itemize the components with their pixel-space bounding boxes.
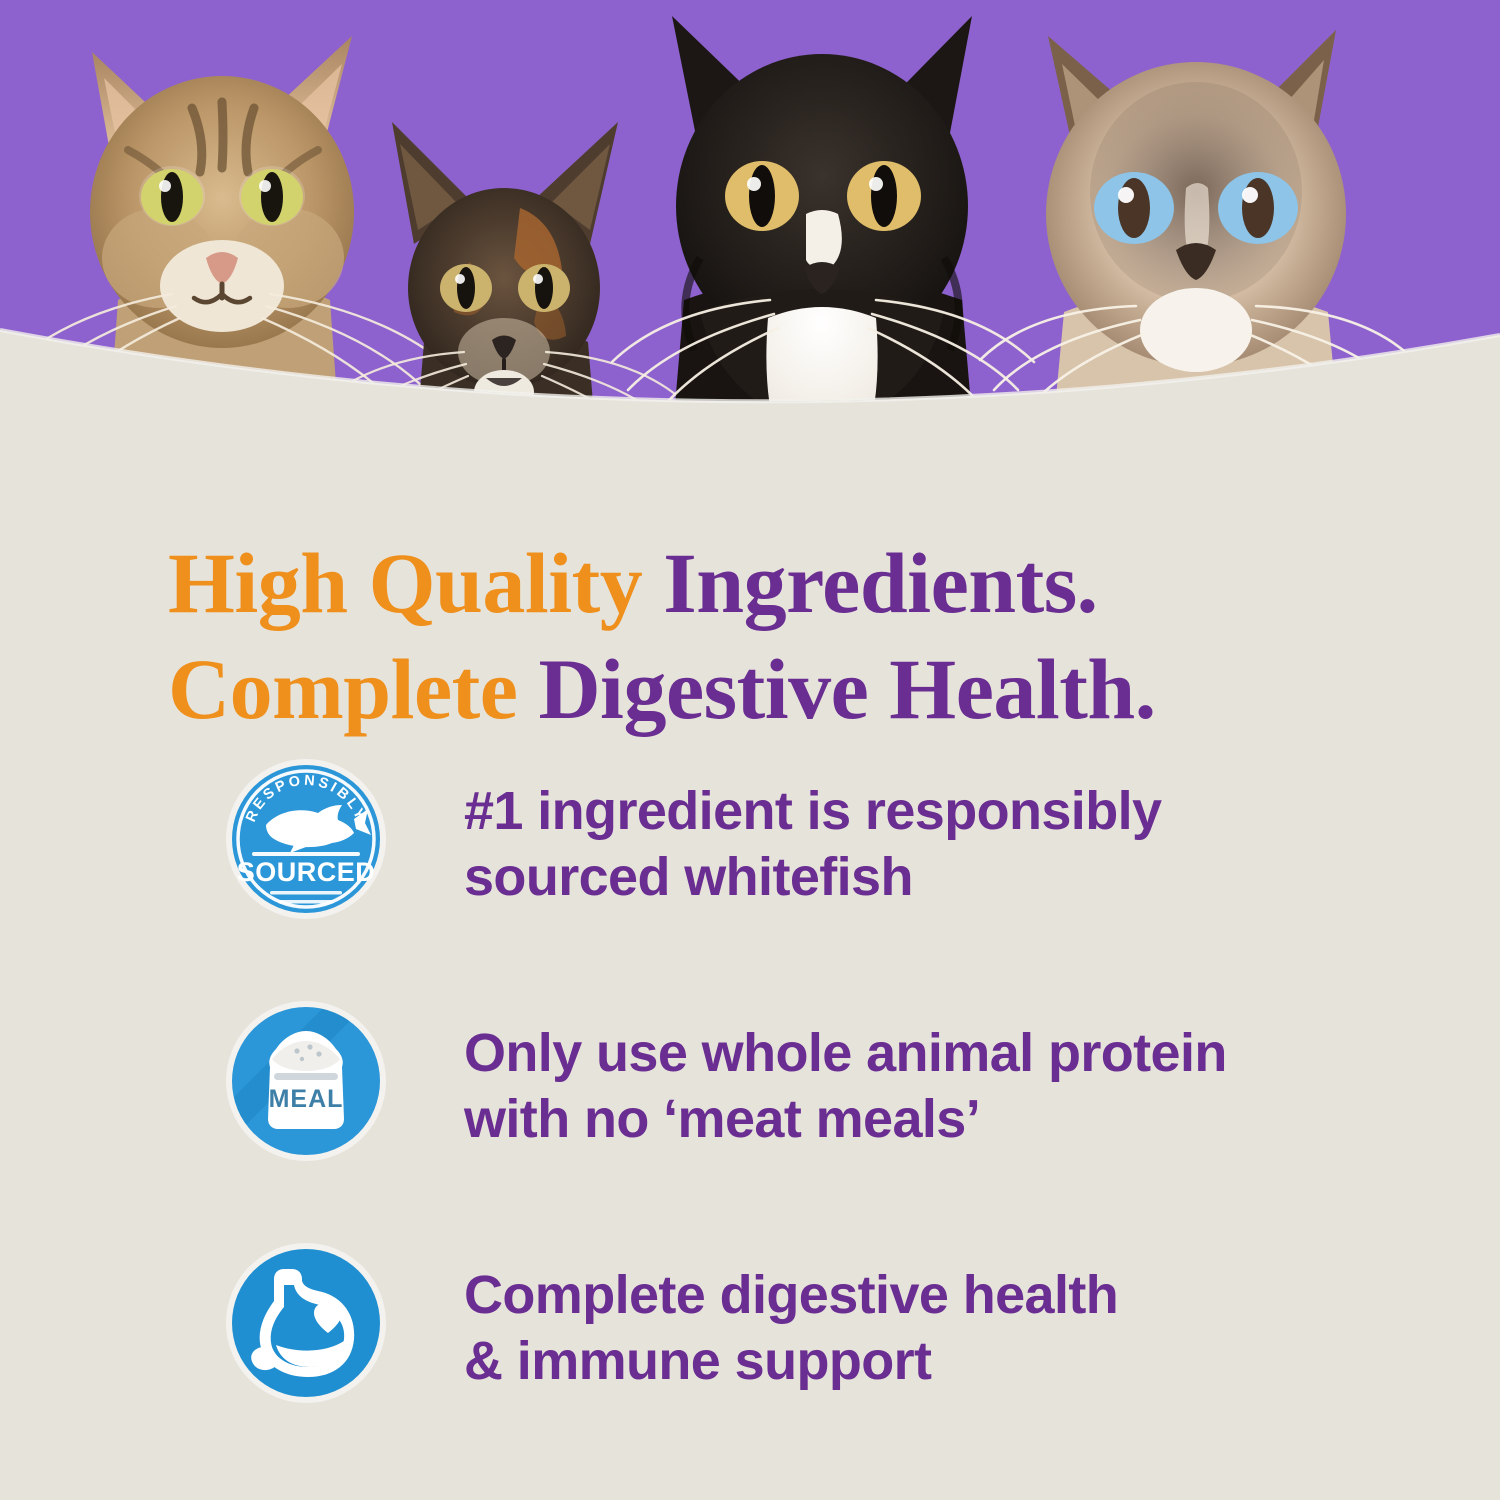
headline-line1-purple: Ingredients. bbox=[663, 535, 1097, 631]
meal-bag-label: MEAL bbox=[269, 1085, 344, 1113]
feature-1-line-2: sourced whitefish bbox=[464, 845, 1161, 911]
feature-1-line-1: #1 ingredient is responsibly bbox=[464, 779, 1161, 845]
feature-2-line-1: Only use whole animal protein bbox=[464, 1021, 1227, 1087]
feature-list: RESPONSIBLY SOURCED #1 ingredient is res… bbox=[0, 755, 1500, 1419]
feature-3-line-1: Complete digestive health bbox=[464, 1263, 1118, 1329]
badge-main-text: SOURCED bbox=[237, 857, 376, 887]
stomach-heart-digestive-icon bbox=[222, 1239, 390, 1407]
page-title: High Quality Ingredients. Complete Diges… bbox=[168, 530, 1398, 743]
feature-2-line-2: with no ‘meat meals’ bbox=[464, 1087, 1227, 1153]
feature-text-responsibly-sourced: #1 ingredient is responsibly sourced whi… bbox=[464, 755, 1161, 911]
feature-item-responsibly-sourced: RESPONSIBLY SOURCED #1 ingredient is res… bbox=[0, 755, 1500, 935]
product-feature-panel: High Quality Ingredients. Complete Diges… bbox=[0, 0, 1500, 1500]
headline-line2-purple: Digestive Health. bbox=[538, 641, 1155, 737]
feature-item-digestive-health: Complete digestive health & immune suppo… bbox=[0, 1239, 1500, 1419]
headline-line1-orange: High Quality bbox=[168, 535, 663, 631]
no-meat-meal-bag-icon: MEAL bbox=[222, 997, 390, 1165]
feature-text-digestive-health: Complete digestive health & immune suppo… bbox=[464, 1239, 1118, 1395]
headline-line-1: High Quality Ingredients. bbox=[168, 530, 1398, 637]
feature-text-no-meat-meals: Only use whole animal protein with no ‘m… bbox=[464, 997, 1227, 1153]
responsibly-sourced-fish-badge: RESPONSIBLY SOURCED bbox=[222, 755, 390, 923]
hero-cats-illustration bbox=[0, 0, 1500, 440]
feature-item-no-meat-meals: MEAL Only use whole animal protein with … bbox=[0, 997, 1500, 1177]
cat-photo-banner bbox=[0, 0, 1500, 440]
cat-tuxedo bbox=[612, 16, 1034, 440]
headline-line-2: Complete Digestive Health. bbox=[168, 636, 1398, 743]
meal-bag: MEAL bbox=[268, 1031, 344, 1129]
feature-3-line-2: & immune support bbox=[464, 1329, 1118, 1395]
headline-line2-orange: Complete bbox=[168, 641, 538, 737]
